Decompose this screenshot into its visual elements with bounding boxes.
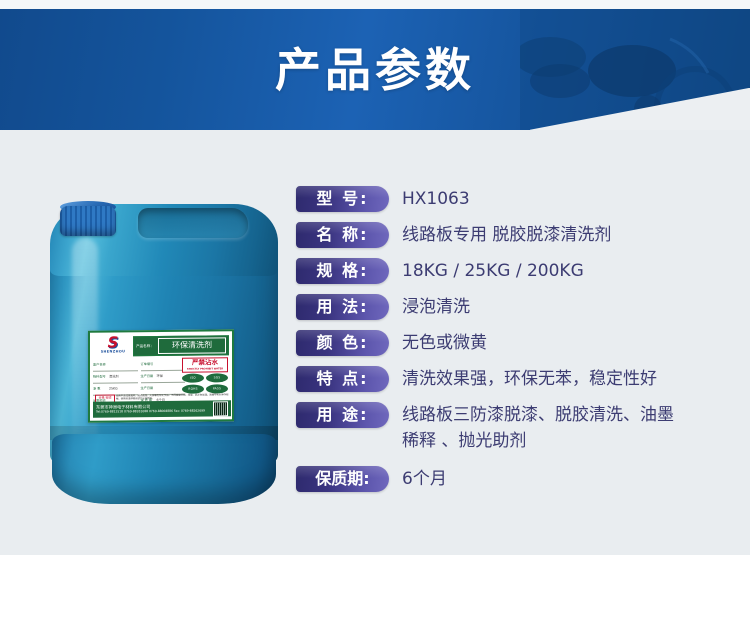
spec-value-name: 线路板专用 脱胶脱漆清洗剂 <box>389 222 736 248</box>
spec-label-name: 名 称: <box>296 222 389 248</box>
spec-label-usage-method: 用 法: <box>296 294 389 320</box>
label-field-value: 环保 <box>157 374 186 378</box>
label-header-row: S SHENZHOU 产品名称： 环保清洗剂 <box>93 334 229 357</box>
spec-row-shelf-life: 保质期: 6个月 <box>296 466 736 492</box>
spec-row-model: 型 号: HX1063 <box>296 186 736 212</box>
warning-subtext: STRICTLY PROHIBIT WATER <box>183 367 227 370</box>
cert-badge: SGS <box>206 373 228 382</box>
label-product-name-box: 产品名称： 环保清洗剂 <box>133 335 229 356</box>
label-field-key: 订单编号 <box>141 363 157 367</box>
jerrycan-handle <box>138 208 248 238</box>
product-image: S SHENZHOU 产品名称： 环保清洗剂 客户名称 订单编号 物料型号清洗剂… <box>42 178 292 518</box>
banner-diagonal-cut <box>530 88 750 130</box>
certification-badges: ISO SGS ROHS PASS <box>182 373 228 393</box>
spec-row-color: 颜 色: 无色或微黄 <box>296 330 736 356</box>
spec-label-specification: 规 格: <box>296 258 389 284</box>
cert-badge: ISO <box>182 374 204 383</box>
spec-row-usage-method: 用 法: 浸泡清洗 <box>296 294 736 320</box>
logo-s-mark: S <box>100 335 126 349</box>
spec-label-features: 特 点: <box>296 366 389 392</box>
label-field-key: 生产日期 <box>141 387 157 391</box>
label-company-footer: 东莞市神洲电子材料有限公司 Tel:0769-8812518 0769-8826… <box>93 400 231 417</box>
spec-label-application: 用 途: <box>296 402 389 428</box>
spec-value-usage-method: 浸泡清洗 <box>389 294 736 320</box>
top-strip <box>0 0 750 9</box>
no-water-warning-badge: 严禁沾水 STRICTLY PROHIBIT WATER <box>182 357 228 372</box>
label-field-key: 物料型号 <box>93 375 109 379</box>
content-panel: S SHENZHOU 产品名称： 环保清洗剂 客户名称 订单编号 物料型号清洗剂… <box>0 130 750 555</box>
label-company-name: 东莞市神洲电子材料有限公司 Tel:0769-8812518 0769-8826… <box>96 403 213 415</box>
product-parameters-page: 产品参数 S SHENZHOU 产品名称： <box>0 0 750 617</box>
label-field: 订单编号 <box>141 359 186 371</box>
spec-value-features: 清洗效果强，环保无苯，稳定性好 <box>389 366 736 392</box>
spec-value-specification: 18KG / 25KG / 200KG <box>389 258 736 284</box>
spec-row-name: 名 称: 线路板专用 脱胶脱漆清洗剂 <box>296 222 736 248</box>
warning-text: 严禁沾水 <box>192 358 218 366</box>
spec-value-shelf-life: 6个月 <box>389 466 736 492</box>
spec-value-model: HX1063 <box>389 186 736 212</box>
label-product-name-key: 产品名称： <box>136 344 158 349</box>
spec-value-application: 线路板三防漆脱漆、脱胶清洗、油墨 稀释 、抛光助剂 <box>389 402 736 454</box>
label-field-value: 25KG <box>109 387 138 391</box>
spec-label-shelf-life: 保质期: <box>296 466 389 492</box>
company-logo: S SHENZHOU <box>93 335 133 357</box>
spec-row-specification: 规 格: 18KG / 25KG / 200KG <box>296 258 736 284</box>
cert-badge: ROHS <box>182 385 204 394</box>
spec-label-color: 颜 色: <box>296 330 389 356</box>
logo-wordmark: SHENZHOU <box>93 349 133 353</box>
jerrycan-base <box>52 434 276 504</box>
label-field-key: 生产日期 <box>141 375 157 379</box>
label-field-key: 净 重 <box>93 387 109 391</box>
spec-label-model: 型 号: <box>296 186 389 212</box>
label-field: 客户名称 <box>93 359 138 371</box>
label-field: 生产日期环保 <box>141 371 186 383</box>
jerrycan-cap <box>60 206 116 236</box>
page-banner: 产品参数 <box>0 9 750 130</box>
label-field: 物料型号清洗剂 <box>93 371 138 383</box>
product-label: S SHENZHOU 产品名称： 环保清洗剂 客户名称 订单编号 物料型号清洗剂… <box>88 329 234 423</box>
spec-row-application: 用 途: 线路板三防漆脱漆、脱胶清洗、油墨 稀释 、抛光助剂 <box>296 402 736 454</box>
label-product-name-value: 环保清洗剂 <box>158 337 226 354</box>
spec-row-features: 特 点: 清洗效果强，环保无苯，稳定性好 <box>296 366 736 392</box>
spec-value-color: 无色或微黄 <box>389 330 736 356</box>
qr-code <box>213 401 228 416</box>
label-field-value: 清洗剂 <box>109 375 138 379</box>
cert-badge: PASS <box>206 384 228 393</box>
specification-list: 型 号: HX1063 名 称: 线路板专用 脱胶脱漆清洗剂 规 格: 18KG… <box>296 186 736 502</box>
label-field-key: 客户名称 <box>93 363 109 367</box>
company-contact-text: Tel:0769-8812518 0769-88261688 0769-8800… <box>96 408 213 415</box>
